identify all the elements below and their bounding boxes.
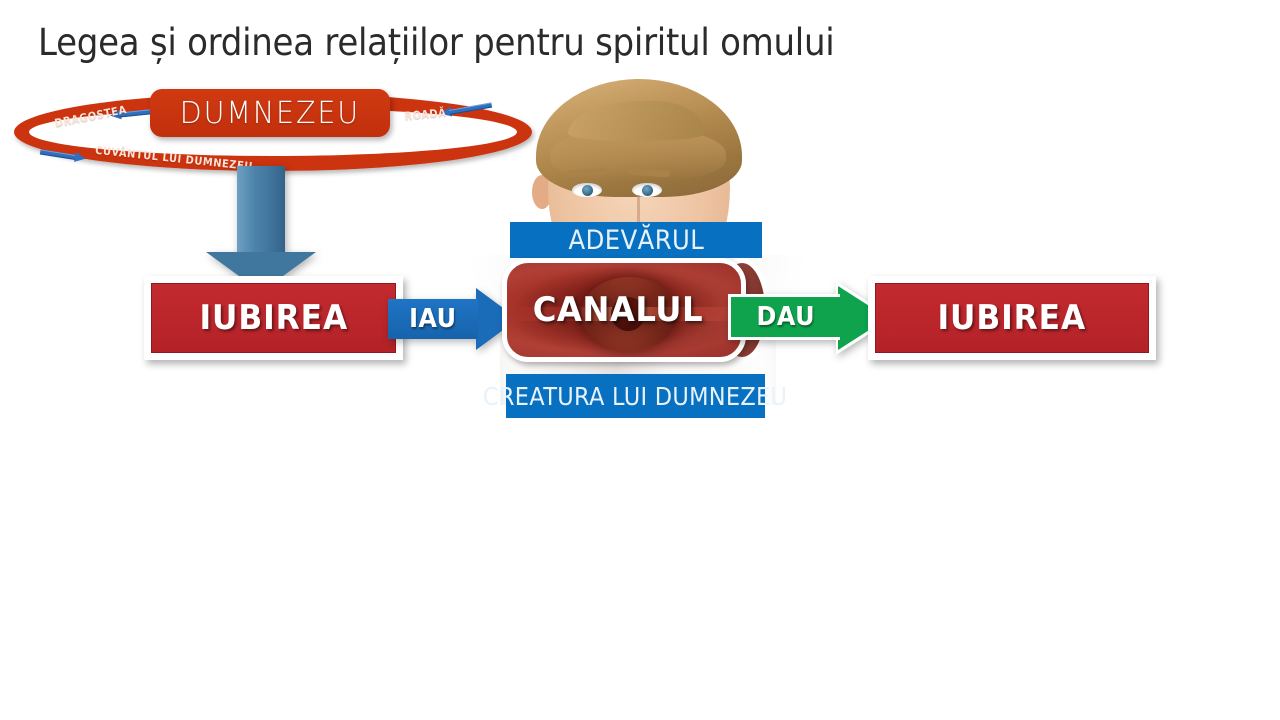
arrow-down-icon [206, 166, 316, 292]
arrow-right-iau-icon[interactable]: IAU [388, 288, 518, 350]
adevarul-label: ADEVĂRUL [568, 225, 704, 256]
page-title: Legea și ordinea relațiilor pentru spiri… [38, 20, 834, 66]
dumnezeu-label: DUMNEZEU [180, 96, 360, 131]
creatura-label: CREATURA LUI DUMNEZEU [483, 382, 787, 411]
arrowhead [74, 152, 86, 164]
arrow-body: IAU [388, 299, 478, 339]
iubirea-box-left-inner: IUBIREA [151, 283, 396, 353]
arrow-shaft [40, 149, 77, 160]
iubirea-right-label: IUBIREA [938, 298, 1087, 338]
dumnezeu-box[interactable]: DUMNEZEU [150, 89, 390, 137]
photo-eye-left [572, 183, 602, 197]
banner-creatura-lui-dumnezeu: CREATURA LUI DUMNEZEU [506, 374, 765, 418]
slide-canvas: Legea și ordinea relațiilor pentru spiri… [0, 0, 1280, 720]
iau-label: IAU [409, 304, 456, 334]
canalul-label: CANALUL [502, 258, 734, 362]
arrow-stem [237, 166, 285, 254]
iubirea-box-right-inner: IUBIREA [875, 283, 1149, 353]
arrow-body: DAU [728, 294, 840, 340]
dau-label: DAU [756, 302, 814, 332]
iubirea-box-left[interactable]: IUBIREA [144, 276, 403, 360]
iubirea-left-label: IUBIREA [199, 298, 348, 338]
iubirea-box-right[interactable]: IUBIREA [868, 276, 1156, 360]
banner-adevarul: ADEVĂRUL [510, 222, 762, 258]
